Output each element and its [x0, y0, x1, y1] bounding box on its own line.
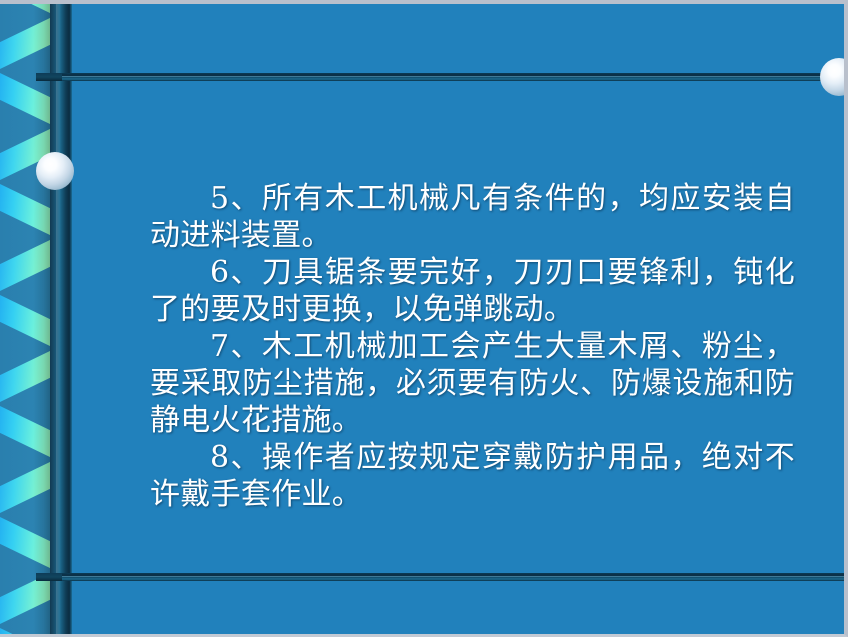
ribbon-band	[0, 459, 52, 515]
ribbon-band	[0, 237, 52, 293]
ribbon-band	[0, 404, 52, 460]
ribbon-band	[0, 182, 52, 238]
glow-bead-right-icon	[820, 58, 848, 96]
vertical-spine-highlight	[56, 0, 61, 637]
ribbon-band	[0, 15, 52, 71]
divider-top	[58, 73, 844, 81]
body-paragraph-8: 8、操作者应按规定穿戴防护用品，绝对不许戴手套作业。	[150, 439, 795, 513]
vertical-spine-bar	[50, 0, 72, 637]
ribbon-band	[0, 348, 52, 404]
ribbon-unit	[0, 293, 52, 404]
ribbon-unit	[0, 182, 52, 293]
ribbon-band	[0, 515, 52, 571]
body-paragraph-7: 7、木工机械加工会产生大量木屑、粉尘，要采取防尘措施，必须要有防火、防爆设施和防…	[150, 328, 795, 439]
divider-bottom	[58, 573, 844, 581]
divider-top-left-cap	[36, 73, 62, 81]
ribbon-band	[0, 293, 52, 349]
divider-bottom-left-cap	[36, 573, 62, 581]
body-paragraph-5: 5、所有木工机械凡有条件的，均应安装自动进料装置。	[150, 180, 795, 254]
ribbon-band	[0, 0, 52, 16]
ribbon-unit	[0, 404, 52, 515]
ribbon-unit	[0, 626, 52, 637]
ribbon-band	[0, 626, 52, 637]
slide-body-text: 5、所有木工机械凡有条件的，均应安装自动进料装置。 6、刀具锯条要完好，刀刃口要…	[150, 180, 795, 513]
zigzag-ribbon-decoration	[0, 0, 52, 637]
ribbon-unit	[0, 515, 52, 626]
presentation-slide: 5、所有木工机械凡有条件的，均应安装自动进料装置。 6、刀具锯条要完好，刀刃口要…	[0, 0, 848, 637]
ribbon-unit	[0, 0, 52, 71]
body-paragraph-6: 6、刀具锯条要完好，刀刃口要锋利，钝化了的要及时更换，以免弹跳动。	[150, 254, 795, 328]
glow-bead-left-icon	[36, 152, 74, 190]
